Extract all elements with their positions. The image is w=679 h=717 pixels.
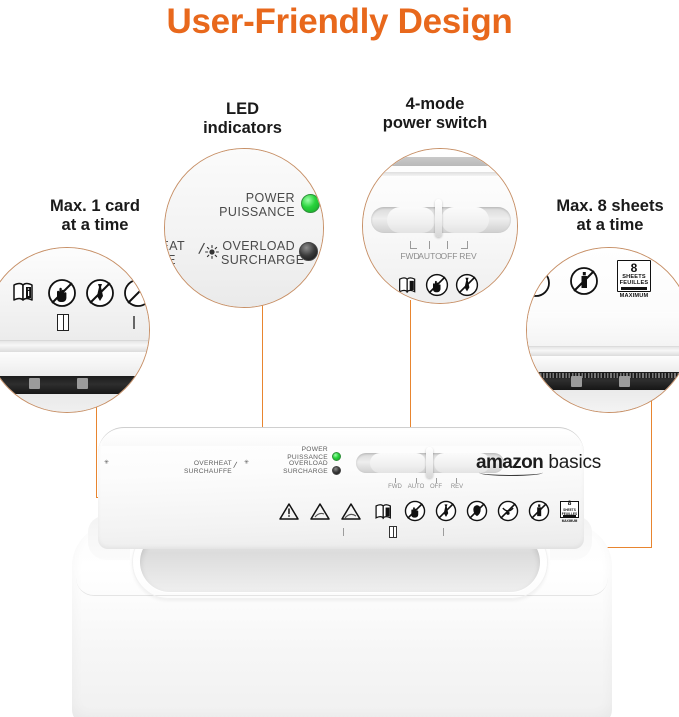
led-overload-indicator [299,242,318,261]
max-sheets-line3: MAXIMUM [613,293,655,299]
callout-label-led-indicators: LED indicators [165,100,320,138]
switch-tick-fwd-foot [410,248,417,249]
no-long-hair-icon [466,500,488,527]
panel-face [527,312,679,346]
warning-icon-strip: 8 SHEETS FEUILLES MAXIMUM [278,500,578,526]
panel-overheat-bullet-icon: ✳ [104,459,109,466]
slot-tooth [619,376,630,387]
panel-overload-line2: SURCHARGE [252,468,328,476]
no-spray-icon [526,268,551,298]
panel-overheat-label: OVERHEAT SURCHAUFFE [112,460,232,476]
max-sheets-line3: MAXIMUM [558,519,581,523]
panel-power-line1: POWER [218,446,328,454]
product-switch-label-rev: REV [443,484,471,490]
panel-edge [0,340,149,352]
manual-book-icon [397,275,419,295]
no-necklace-icon [497,500,519,527]
slot-tooth [571,376,582,387]
led-power-indicator [301,194,320,213]
callout-label-line2: at a time [0,216,190,235]
warning-hand-triangle-icon [309,502,331,526]
product-switch-tick-off [436,478,437,483]
slot-teeth-strip [527,373,679,378]
led-overheat-partial-label: HEAT FFE [164,239,197,267]
magnifier-max-8-sheets: 8 SHEETS FEUILLES MAXIMUM [526,247,679,413]
overload-sun-icon [205,245,219,259]
callout-label-line1: 4-mode [355,95,515,114]
callout-label-line1: Max. 1 card [0,197,190,216]
shredder-top-panel: OVERHEAT SURCHAUFFE ✳ / ✳ POWER PUISSANC… [98,427,584,549]
no-hands-icon [425,273,449,297]
panel-edge [527,346,679,356]
manual-book-icon [373,502,395,526]
switch-tick-off [447,241,448,249]
no-tie-icon [455,273,479,297]
switch-mode-label-rev: REV [453,251,483,261]
no-aerosol-icon [569,266,599,296]
led-overheat-line2: FFE [164,253,197,267]
panel-lower-face [0,352,149,376]
no-spray-icon [528,500,550,527]
product-switch-tick-rev [456,478,457,483]
product-led-overload [332,466,341,475]
page-title: User-Friendly Design [0,2,679,42]
magnifier-max-1-card [0,247,150,413]
product-shredder: OVERHEAT SURCHAUFFE ✳ / ✳ POWER PUISSANC… [40,420,640,717]
product-switch-pad-left[interactable] [370,453,426,473]
max-sheets-line2: FEUILLES [617,280,651,286]
led-overheat-line1: HEAT [164,239,197,253]
panel-overheat-line1: OVERHEAT [112,460,232,468]
magnifier-power-switch: FWD AUTO OFF REV [362,148,518,304]
base-face [527,390,679,413]
power-switch-pad-right[interactable] [441,207,489,233]
max-sheets-count: 8 [560,501,579,508]
warning-exclamation-triangle-icon [278,502,300,526]
product-led-power [332,452,341,461]
lid-strip-edge [363,172,518,176]
led-overload-label-line1: OVERLOAD [221,239,295,253]
panel-lower-face [527,356,679,372]
product-switch-tick-auto [416,478,417,483]
callout-label-line2: at a time [520,216,679,235]
panel-tick-card-line [63,314,64,331]
max-sheets-count: 8 [617,261,651,275]
callout-label-power-switch: 4-mode power switch [355,95,515,133]
callout-label-max-1-card: Max. 1 card at a time [0,197,190,235]
product-switch-tick-fwd [395,478,396,483]
brand-suffix: basics [548,452,601,473]
callout-label-line2: indicators [165,119,320,138]
max-sheets-icon: 8 SHEETS FEUILLES MAXIMUM [613,260,655,304]
infographic-root: User-Friendly Design Max. 1 card at a ti… [0,0,679,717]
led-power-label-line2: PUISSANCE [195,205,295,219]
panel-tick [133,316,135,329]
callout-label-line1: LED [165,100,320,119]
base-face [0,394,149,413]
panel-tick-card-line [393,526,394,538]
warning-paper-triangle-icon [340,502,362,526]
brand-smile-icon [479,469,543,476]
no-hands-icon [47,278,77,308]
panel-overload-line1: OVERLOAD [252,460,328,468]
no-tie-icon [85,278,115,308]
product-switch-knob[interactable] [426,447,433,478]
led-overload-label-line2: SURCHARGE [221,253,295,267]
power-switch-knob[interactable] [435,199,442,237]
no-tie-icon [435,500,457,527]
no-hands-icon [404,500,426,527]
switch-tick-auto [429,241,430,249]
callout-label-line1: Max. 8 sheets [520,197,679,216]
led-power-label-line1: POWER [195,191,295,205]
panel-tick-right [443,528,444,536]
switch-tick-rev-foot [461,248,468,249]
magnifier-led-indicators: POWER PUISSANCE HEAT FFE / [164,148,324,308]
panel-overload-label: OVERLOAD SURCHARGE [252,460,328,476]
led-power-label: POWER PUISSANCE [195,191,295,219]
slot-tooth [29,378,40,389]
card-slot [0,376,150,394]
led-overload-label: OVERLOAD SURCHARGE [221,239,295,267]
callout-label-line2: power switch [355,114,515,133]
no-spray-icon [123,278,150,308]
manual-book-icon [11,280,37,304]
power-switch-pad-left[interactable] [387,207,435,233]
panel-overheat-line2: SURCHAUFFE [112,468,232,476]
callout-label-max-8-sheets: Max. 8 sheets at a time [520,197,679,235]
panel-tick-left [343,528,344,536]
slot-tooth [77,378,88,389]
lid-strip-dark [363,157,518,166]
